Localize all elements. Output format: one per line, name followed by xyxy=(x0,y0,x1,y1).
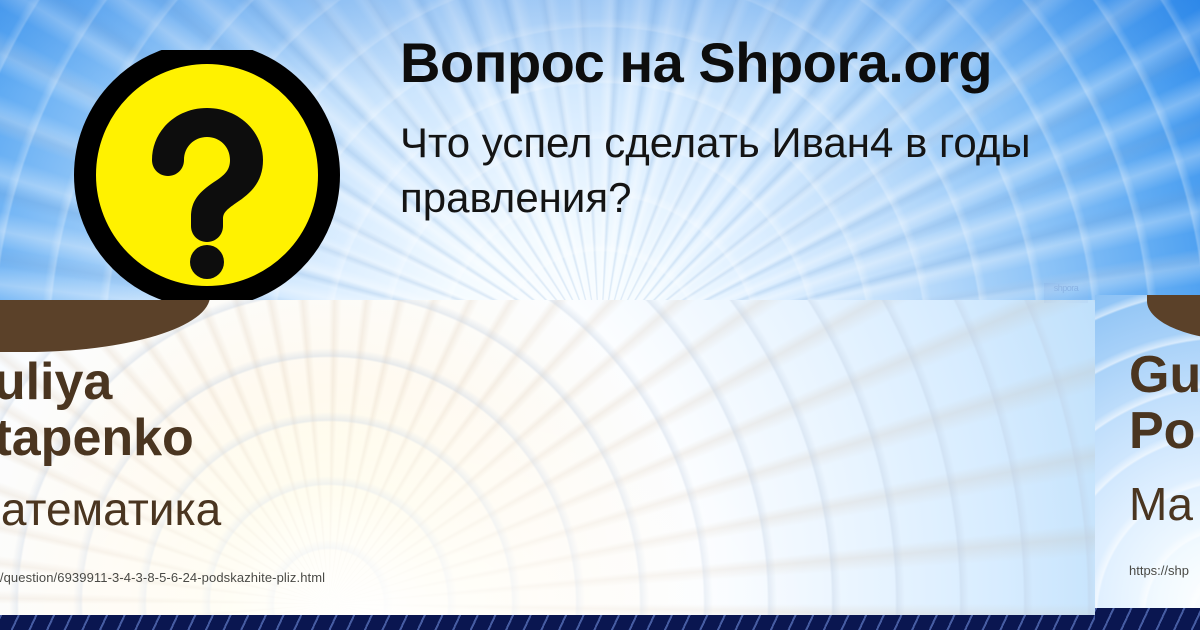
question-card: Вопрос на Shpora.org Что успел сделать И… xyxy=(0,0,1200,300)
secondary-author-subject: Ma xyxy=(1129,477,1200,531)
question-mark-icon xyxy=(62,50,352,300)
footer-band xyxy=(0,615,1200,630)
author-card-secondary: Gu Po Ma https://shp xyxy=(1095,295,1200,630)
question-body: Что успел сделать Иван4 в годы правления… xyxy=(400,115,1090,226)
author-first-name: Yuliya xyxy=(0,354,522,410)
secondary-author-last-name: Po xyxy=(1129,403,1200,459)
graduation-cap-icon-secondary xyxy=(1147,295,1200,341)
secondary-author-first-name: Gu xyxy=(1129,347,1200,403)
secondary-author-name-block: Gu Po Ma xyxy=(1129,347,1200,531)
graduation-cap-icon xyxy=(0,300,210,352)
source-url[interactable]: ora.org/question/6939911-3-4-3-8-5-6-24-… xyxy=(0,570,325,585)
secondary-source-url[interactable]: https://shp xyxy=(1129,563,1189,578)
watermark-logo: shpora xyxy=(1044,283,1088,303)
author-card: Yuliya Potapenko Математика ora.org/ques… xyxy=(0,300,1095,630)
question-text-block: Вопрос на Shpora.org Что успел сделать И… xyxy=(400,34,1090,226)
author-last-name: Potapenko xyxy=(0,410,522,466)
author-subject: Математика xyxy=(0,482,522,536)
author-name-block: Yuliya Potapenko Математика xyxy=(0,354,522,536)
footer-band-secondary xyxy=(1095,608,1200,630)
poster-canvas: Вопрос на Shpora.org Что успел сделать И… xyxy=(0,0,1200,630)
page-title: Вопрос на Shpora.org xyxy=(400,34,1090,93)
